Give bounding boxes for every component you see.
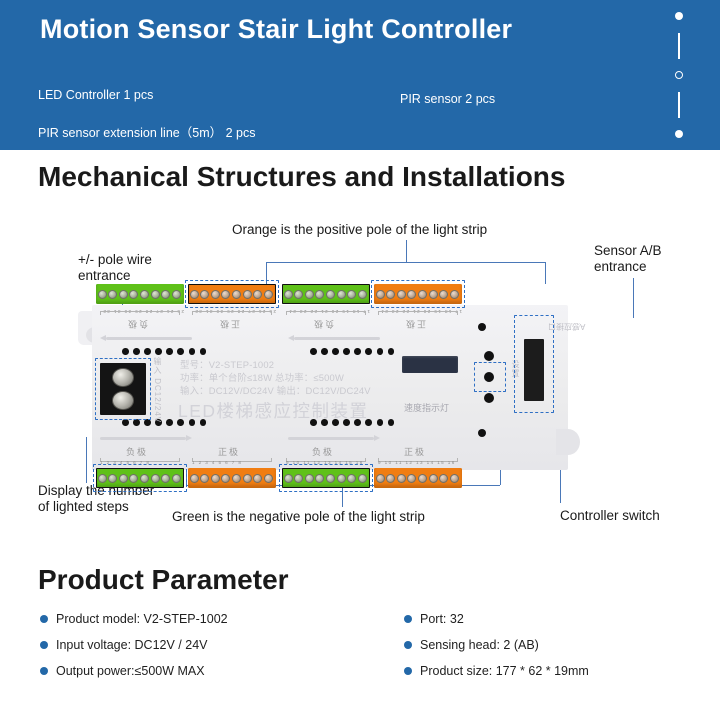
screw-icon — [129, 290, 138, 299]
pin-bracket-top-3 — [192, 311, 272, 315]
highlight-power-terminal — [95, 358, 151, 420]
screw-icon — [161, 290, 170, 299]
silk-brand-line: LED楼梯感应控制装置 — [178, 398, 369, 423]
parameter-text: Port: 32 — [420, 612, 464, 626]
screw-icon — [397, 474, 406, 483]
pin-bracket-top-1 — [378, 311, 458, 315]
silk-speed-indicator-label: 速度指示灯 — [404, 401, 449, 414]
led-row-top-right — [310, 348, 394, 355]
mounting-tab-right — [556, 429, 580, 455]
screw-icon — [450, 474, 459, 483]
parameter-item: Output power:≤500W MAX — [40, 658, 228, 684]
pin-bracket-top-2 — [286, 311, 366, 315]
terminal-outline-top-2 — [282, 284, 370, 304]
pin-bracket-top-4 — [100, 311, 180, 315]
screw-icon — [151, 290, 160, 299]
parameter-text: Output power:≤500W MAX — [56, 664, 205, 678]
callout-sensor-entrance: Sensor A/B entrance — [594, 243, 704, 276]
channel-arrow-top-left — [106, 337, 192, 340]
highlight-top-orange-2 — [185, 280, 279, 308]
pole-label-top-4: 负极 — [126, 318, 148, 331]
indicator-dot-lower — [478, 429, 486, 437]
header-banner: Motion Sensor Stair Light Controller LED… — [0, 0, 720, 150]
highlight-bottom-green-1 — [93, 464, 187, 492]
channel-arrow-bottom-left — [100, 437, 186, 440]
callout-orange-positive: Orange is the positive pole of the light… — [232, 222, 487, 238]
controller-diagram: Orange is the positive pole of the light… — [0, 215, 720, 545]
button-dot-top[interactable] — [484, 351, 494, 361]
arrow-head-icon — [100, 335, 106, 341]
dot-filled-icon — [675, 12, 683, 20]
mechanical-section-title: Mechanical Structures and Installations — [38, 161, 565, 193]
leader-orange-right — [545, 262, 546, 284]
screw-icon — [140, 290, 149, 299]
screw-icon — [172, 290, 181, 299]
speed-display-window — [402, 356, 458, 373]
parameter-column-left: Product model: V2-STEP-1002 Input voltag… — [40, 606, 228, 684]
terminal-strip-bottom-positive-1[interactable] — [188, 468, 276, 488]
screw-icon — [119, 290, 128, 299]
highlight-bottom-green-2 — [279, 464, 373, 492]
silk-sensor-port-label: A感应接口 — [548, 321, 585, 332]
screw-icon — [407, 474, 416, 483]
arrow-head-icon — [288, 335, 294, 341]
parameter-text: Sensing head: 2 (AB) — [420, 638, 539, 652]
callout-green-negative: Green is the negative pole of the light … — [172, 509, 425, 525]
channel-arrow-bottom-right — [288, 437, 374, 440]
header-decoration — [668, 12, 690, 138]
vertical-line-icon — [678, 92, 680, 118]
parameter-column-right: Port: 32 Sensing head: 2 (AB) Product si… — [404, 606, 589, 684]
screw-icon — [439, 474, 448, 483]
vertical-line-icon — [678, 33, 680, 59]
pole-label-top-3: 正极 — [218, 318, 240, 331]
bullet-icon — [404, 667, 412, 675]
kit-item-pir-sensor: PIR sensor 2 pcs — [400, 92, 495, 106]
parameter-section-title: Product Parameter — [38, 564, 289, 596]
screw-icon — [264, 474, 273, 483]
terminal-strip-bottom-positive-2[interactable] — [374, 468, 462, 488]
parameter-item: Input voltage: DC12V / 24V — [40, 632, 228, 658]
product-infographic: Motion Sensor Stair Light Controller LED… — [0, 0, 720, 720]
pin-numbers-bottom-4: 9 10 11 12 13 14 15 16 — [378, 460, 456, 465]
pole-label-bottom-4: 正极 — [404, 445, 426, 458]
screw-icon — [429, 474, 438, 483]
channel-arrow-top-right — [294, 337, 380, 340]
leader-orange-stem — [406, 240, 407, 262]
silk-input-label: 输入 DC12/24V — [152, 357, 163, 413]
screw-icon — [190, 474, 199, 483]
dot-filled-icon — [675, 130, 683, 138]
screw-icon — [98, 290, 107, 299]
parameter-item: Port: 32 — [404, 606, 589, 632]
page-title: Motion Sensor Stair Light Controller — [40, 14, 640, 45]
silk-io-line: 输入：DC12V/DC24V 输出：DC12V/DC24V — [180, 385, 371, 398]
screw-icon — [418, 474, 427, 483]
pole-label-bottom-1: 负极 — [126, 445, 148, 458]
leader-sensor — [633, 278, 634, 318]
screw-icon — [108, 290, 117, 299]
kit-item-controller: LED Controller 1 pcs — [38, 88, 153, 102]
bullet-icon — [40, 615, 48, 623]
highlight-top-orange-1 — [371, 280, 465, 308]
screw-icon — [200, 474, 209, 483]
parameter-text: Product model: V2-STEP-1002 — [56, 612, 228, 626]
pole-label-bottom-3: 负极 — [312, 445, 334, 458]
indicator-dot-upper — [478, 323, 486, 331]
screw-icon — [211, 474, 220, 483]
screw-icon — [376, 474, 385, 483]
parameter-item: Sensing head: 2 (AB) — [404, 632, 589, 658]
parameter-item: Product model: V2-STEP-1002 — [40, 606, 228, 632]
pin-numbers-bottom-2: 1 2 3 4 5 6 7 8 — [192, 460, 242, 465]
silk-power-line: 功率：单个台阶≤18W 总功率：≤500W — [180, 372, 344, 385]
screw-icon — [221, 474, 230, 483]
callout-controller-switch: Controller switch — [560, 508, 670, 524]
screw-icon — [253, 474, 262, 483]
leader-orange-bar — [266, 262, 546, 263]
pole-label-top-2: 负极 — [312, 318, 334, 331]
screw-icon — [232, 474, 241, 483]
callout-pole-wire-entrance: +/- pole wire entrance — [78, 252, 198, 285]
arrow-head-icon — [186, 435, 192, 441]
circle-outline-icon — [675, 71, 683, 79]
button-dot-bottom[interactable] — [484, 393, 494, 403]
silk-model-line: 型号：V2-STEP-1002 — [180, 359, 274, 372]
led-row-top-left — [122, 348, 206, 355]
kit-item-extension-line: PIR sensor extension line（5m） 2 pcs — [38, 122, 255, 141]
bullet-icon — [404, 615, 412, 623]
parameter-text: Input voltage: DC12V / 24V — [56, 638, 207, 652]
bullet-icon — [40, 641, 48, 649]
bullet-icon — [404, 641, 412, 649]
bullet-icon — [40, 667, 48, 675]
screw-icon — [243, 474, 252, 483]
parameter-item: Product size: 177 * 62 * 19mm — [404, 658, 589, 684]
terminal-strip-top-negative-2[interactable] — [96, 284, 184, 304]
leader-display-steps — [86, 437, 87, 483]
arrow-head-icon — [374, 435, 380, 441]
screw-icon — [386, 474, 395, 483]
pole-label-bottom-2: 正极 — [218, 445, 240, 458]
highlight-controller-switch — [474, 362, 506, 392]
parameter-text: Product size: 177 * 62 * 19mm — [420, 664, 589, 678]
pole-label-top-1: 正极 — [404, 318, 426, 331]
